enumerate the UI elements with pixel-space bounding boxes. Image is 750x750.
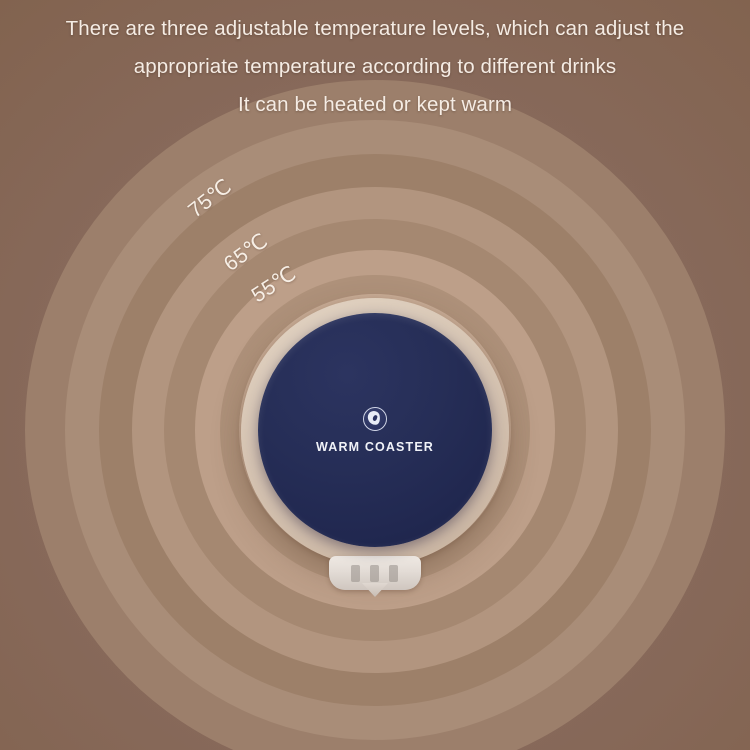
globe-emblem-icon [363, 407, 387, 431]
brand-name: WARM COASTER [316, 440, 434, 454]
headline-line-1: There are three adjustable temperature l… [0, 10, 750, 48]
headline-line-3: It can be heated or kept warm [0, 86, 750, 124]
temperature-indicator-led-3 [389, 565, 398, 582]
temperature-indicator-led-2 [370, 565, 379, 582]
coaster-top-plate: WARM COASTER [258, 313, 492, 547]
temperature-indicator-led-1 [351, 565, 360, 582]
headline-line-2: appropriate temperature according to dif… [0, 48, 750, 86]
product-marketing-image: WARM COASTER 75℃ 65℃ 55℃ There are three… [0, 0, 750, 750]
headline-block: There are three adjustable temperature l… [0, 10, 750, 124]
